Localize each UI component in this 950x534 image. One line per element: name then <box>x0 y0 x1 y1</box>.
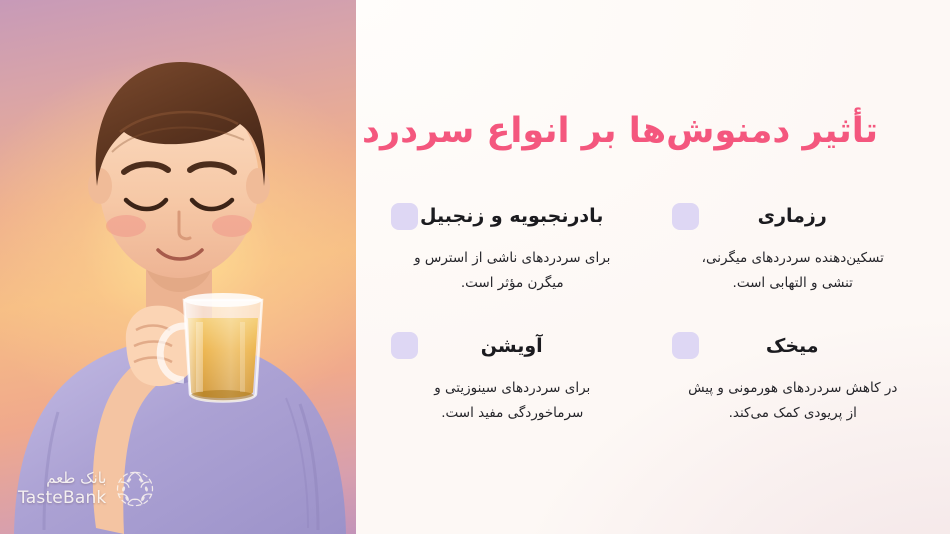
rounded-square-icon <box>391 332 418 359</box>
brand-name-en: TasteBank <box>18 488 106 508</box>
content-panel: تأثیر دمنوش‌ها بر انواع سردرد رزماری تسک… <box>355 0 950 534</box>
person-holding-tea-mug-illustration <box>0 0 356 534</box>
tea-card-title: بادرنجبویه و زنجبیل <box>418 205 634 228</box>
illustration-panel: بانک طعم TasteBank <box>0 0 356 534</box>
tea-card-description: تسکین‌دهنده سردردهای میگرنی، تنشی و الته… <box>672 246 915 296</box>
laurel-wreath-icon <box>114 468 156 510</box>
tea-card-description: برای سردردهای سینوزیتی و سرماخوردگی مفید… <box>391 376 634 426</box>
tea-card-header: آویشن <box>391 326 634 366</box>
tea-card-clove: میخک در کاهش سردردهای هورمونی و پیش از پ… <box>658 326 929 426</box>
tea-mug <box>184 293 262 402</box>
rounded-square-icon <box>672 203 699 230</box>
brand-text: بانک طعم TasteBank <box>18 470 106 508</box>
slide-root: تأثیر دمنوش‌ها بر انواع سردرد رزماری تسک… <box>0 0 950 534</box>
tea-card-header: میخک <box>672 326 915 366</box>
brand-name-fa: بانک طعم <box>18 470 106 488</box>
tea-card-lemonbalm-ginger: بادرنجبویه و زنجبیل برای سردردهای ناشی ا… <box>377 196 648 296</box>
rounded-square-icon <box>391 203 418 230</box>
tea-card-header: رزماری <box>672 196 915 236</box>
tea-card-title: میخک <box>699 335 915 358</box>
tea-card-title: رزماری <box>699 205 915 228</box>
tea-card-thyme: آویشن برای سردردهای سینوزیتی و سرماخوردگ… <box>377 326 648 426</box>
tea-card-title: آویشن <box>418 335 634 358</box>
tea-card-description: در کاهش سردردهای هورمونی و پیش از پریودی… <box>672 376 915 426</box>
tea-card-rosemary: رزماری تسکین‌دهنده سردردهای میگرنی، تنشی… <box>658 196 929 296</box>
tea-card-description: برای سردردهای ناشی از استرس و میگرن مؤثر… <box>391 246 634 296</box>
brand-watermark: بانک طعم TasteBank <box>18 468 156 510</box>
tea-card-header: بادرنجبویه و زنجبیل <box>391 196 634 236</box>
page-title: تأثیر دمنوش‌ها بر انواع سردرد <box>415 110 878 154</box>
tea-cards-grid: رزماری تسکین‌دهنده سردردهای میگرنی، تنشی… <box>377 196 928 426</box>
rounded-square-icon <box>672 332 699 359</box>
